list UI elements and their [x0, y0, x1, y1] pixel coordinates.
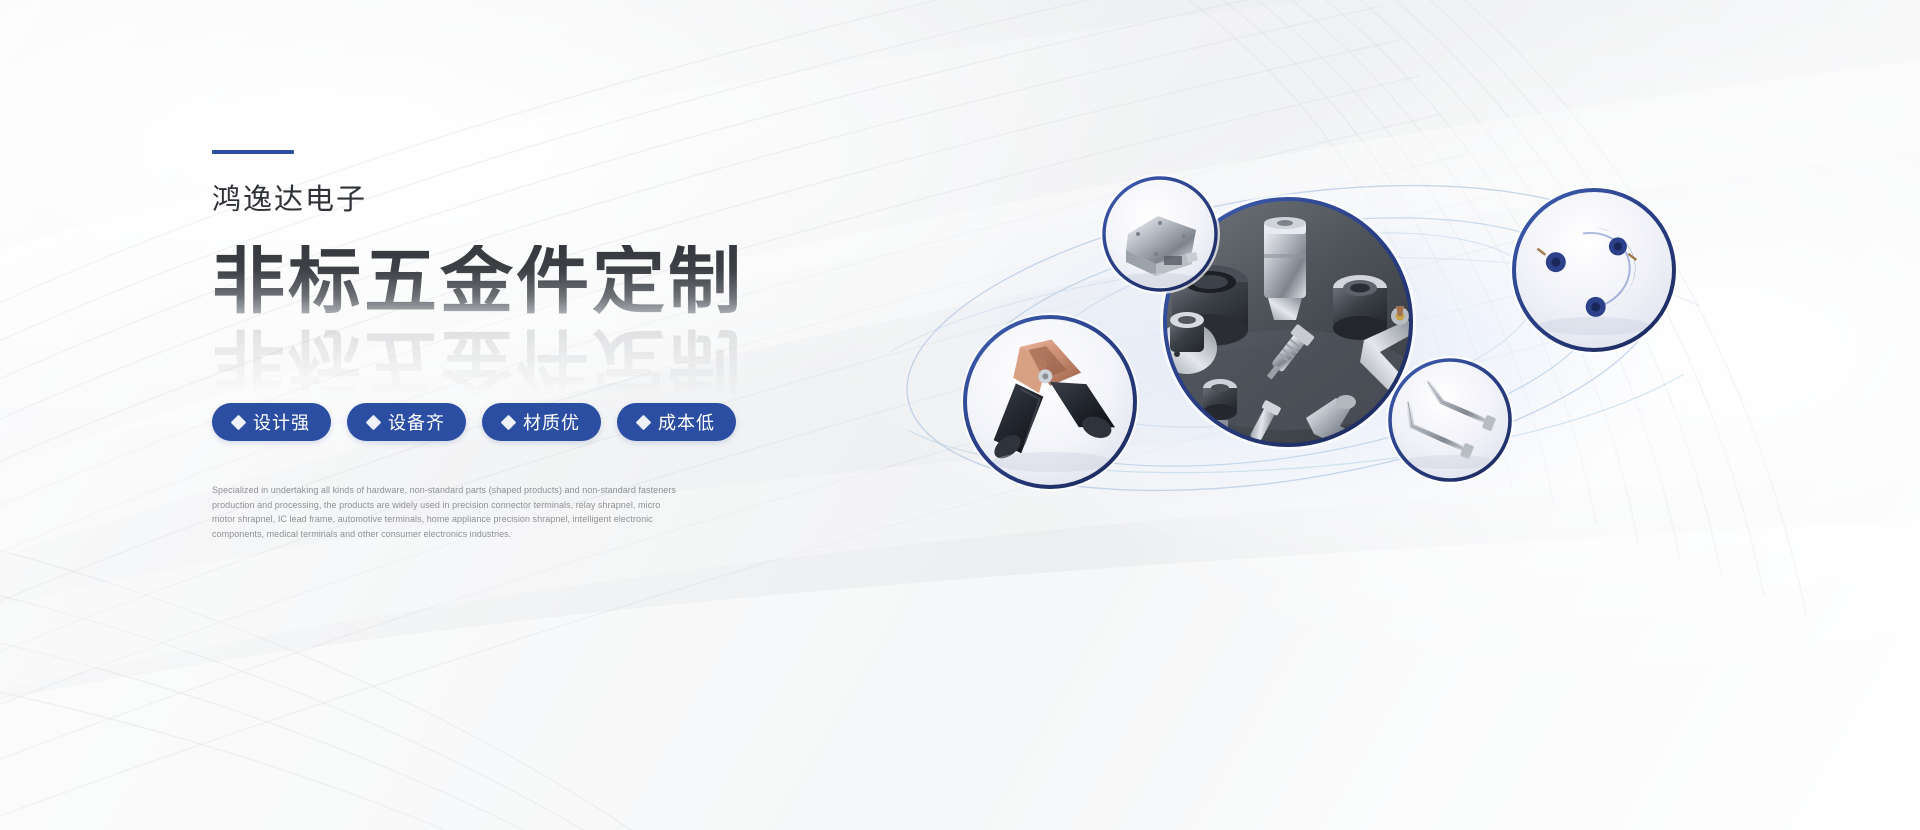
headline-reflection: 非标五金件定制 — [212, 325, 744, 398]
accent-bar — [212, 150, 294, 154]
feature-badge-material[interactable]: 材质优 — [482, 403, 601, 441]
page-title: 非标五金件定制 — [212, 245, 744, 318]
part-socket — [1333, 275, 1387, 340]
product-showcase — [740, 130, 1780, 550]
feature-badge-label: 设备齐 — [388, 409, 445, 435]
feature-badge-label: 设计强 — [253, 409, 310, 435]
diamond-icon — [636, 414, 652, 430]
part-cylinder — [1264, 217, 1306, 320]
circle-copper-battery-clamp[interactable] — [961, 313, 1139, 491]
feature-badge-design[interactable]: 设计强 — [212, 403, 331, 441]
feature-badge-label: 材质优 — [523, 409, 580, 435]
circle-bent-terminal-pins[interactable] — [1386, 356, 1514, 484]
diamond-icon — [231, 414, 247, 430]
circle-blue-snap-ring[interactable] — [1510, 186, 1678, 354]
company-description: Specialized in undertaking all kinds of … — [212, 483, 684, 541]
circle-metal-enclosure-box[interactable] — [1100, 174, 1220, 294]
diamond-icon — [366, 414, 382, 430]
diamond-icon — [501, 414, 517, 430]
feature-badge-cost[interactable]: 成本低 — [617, 403, 736, 441]
product-circles-graphic — [740, 130, 1780, 550]
feature-badge-equipment[interactable]: 设备齐 — [347, 403, 466, 441]
feature-badge-label: 成本低 — [658, 409, 715, 435]
